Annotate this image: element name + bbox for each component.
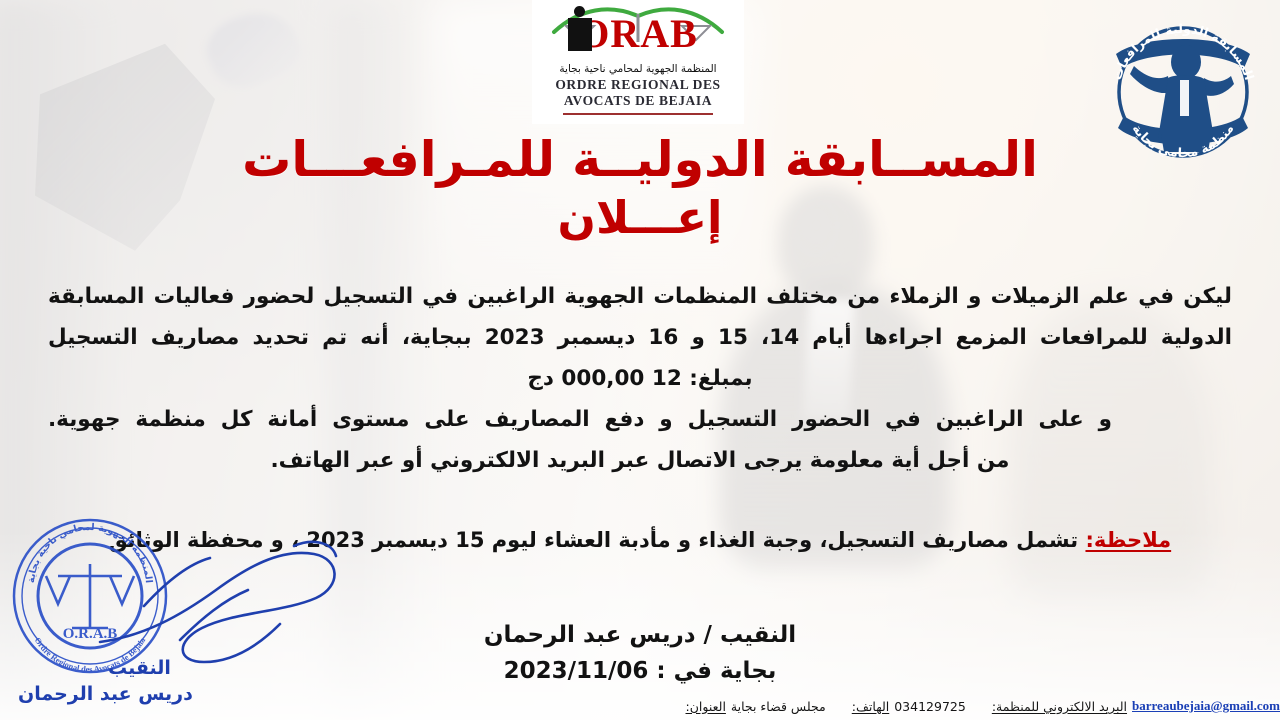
orab-arabic-subtitle: المنظمة الجهوية لمحامي ناحية بجاية [559,63,716,75]
footer-address: مجلس قضاء بجاية العنوان: [686,699,826,714]
registration-fee-amount: بمبلغ: 12 000,00 دج [48,358,1232,399]
title-block: المســابقة الدوليــة للمـرافعـــات إعـــ… [0,132,1280,246]
stamp-acronym: O.R.A.B [63,626,118,642]
footer-phone-value: 034129725 [894,699,966,714]
footer-phone-label: الهاتف: [852,699,889,714]
orab-wordmark: ORAB [540,6,736,62]
body-paragraph-2: و على الراغبين في الحضور التسجيل و دفع ا… [48,399,1112,440]
orab-person-glyph [568,18,592,51]
footer-email[interactable]: barreaubejaia@gmail.com البريد الالكترون… [992,698,1280,714]
footer-phone: 034129725 الهاتف: [852,699,966,714]
orab-divider [563,113,713,115]
body-paragraph-3: من أجل أية معلومة يرجى الاتصال عبر البري… [48,440,1232,481]
orab-french-line-1: ORDRE REGIONAL DES [555,77,720,93]
footer-email-label: البريد الالكتروني للمنظمة: [992,699,1127,714]
signatory-name: النقيب / دريس عبد الرحمان [0,618,1280,652]
orab-logo: ORAB المنظمة الجهوية لمحامي ناحية بجاية … [532,0,744,124]
poster-title: المســابقة الدوليــة للمـرافعـــات [0,132,1280,188]
note-text: تشمل مصاريف التسجيل، وجبة الغذاء و مأدبة… [109,528,1086,552]
signature-block: النقيب / دريس عبد الرحمان بجاية في : 202… [0,618,1280,690]
stamp-handwritten-title: النقيب [108,657,171,679]
note-line: ملاحظة: تشمل مصاريف التسجيل، وجبة الغذاء… [0,528,1280,552]
footer-address-label: العنوان: [686,699,726,714]
footer-contact-bar: barreaubejaia@gmail.com البريد الالكترون… [0,694,1280,718]
poster-subtitle: إعـــلان [0,190,1280,246]
note-label: ملاحظة: [1085,528,1171,552]
body-paragraph-1: ليكن في علم الزميلات و الزملاء من مختلف … [48,276,1232,358]
footer-address-value: مجلس قضاء بجاية [731,699,826,714]
announcement-poster: ORAB المنظمة الجهوية لمحامي ناحية بجاية … [0,0,1280,720]
orab-rubber-stamp: المنظمة الجهوية لمحامي ناحية بجاية Ordre… [6,512,174,680]
footer-email-value[interactable]: barreaubejaia@gmail.com [1132,698,1280,714]
body-text: ليكن في علم الزميلات و الزملاء من مختلف … [48,276,1232,481]
orab-french-line-2: AVOCATS DE BEJAIA [555,93,720,109]
